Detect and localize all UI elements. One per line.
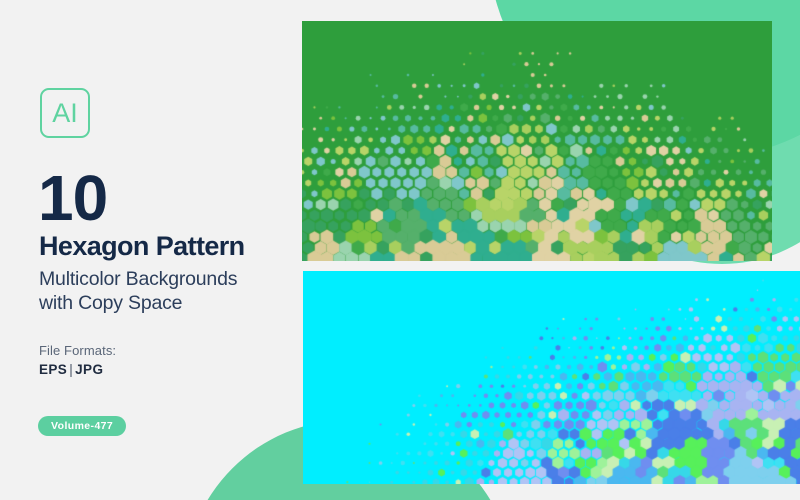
preview-green-hexagon-pattern[interactable] <box>302 21 772 261</box>
info-panel: AI 10 Hexagon Pattern Multicolor Backgro… <box>0 0 300 500</box>
format-jpg: JPG <box>75 362 103 377</box>
format-separator: | <box>67 362 75 377</box>
page-subtitle-line2: with Copy Space <box>39 292 237 316</box>
format-eps: EPS <box>39 362 67 377</box>
adobe-illustrator-icon: AI <box>40 88 90 138</box>
page-subtitle: Multicolor Backgrounds with Copy Space <box>39 268 237 316</box>
volume-badge: Volume-477 <box>38 416 126 436</box>
item-count: 10 <box>38 166 107 230</box>
file-formats-value: EPS|JPG <box>39 362 103 377</box>
page-subtitle-line1: Multicolor Backgrounds <box>39 268 237 292</box>
file-formats-label: File Formats: <box>39 343 116 358</box>
volume-badge-label: Volume-477 <box>51 421 113 432</box>
page-title: Hexagon Pattern <box>39 232 245 260</box>
preview-cyan-canvas <box>303 271 800 484</box>
preview-cyan-hexagon-pattern[interactable] <box>303 271 800 484</box>
preview-green-canvas <box>302 21 772 261</box>
poster-canvas: AI 10 Hexagon Pattern Multicolor Backgro… <box>0 0 800 500</box>
ai-badge-label: AI <box>52 100 78 127</box>
